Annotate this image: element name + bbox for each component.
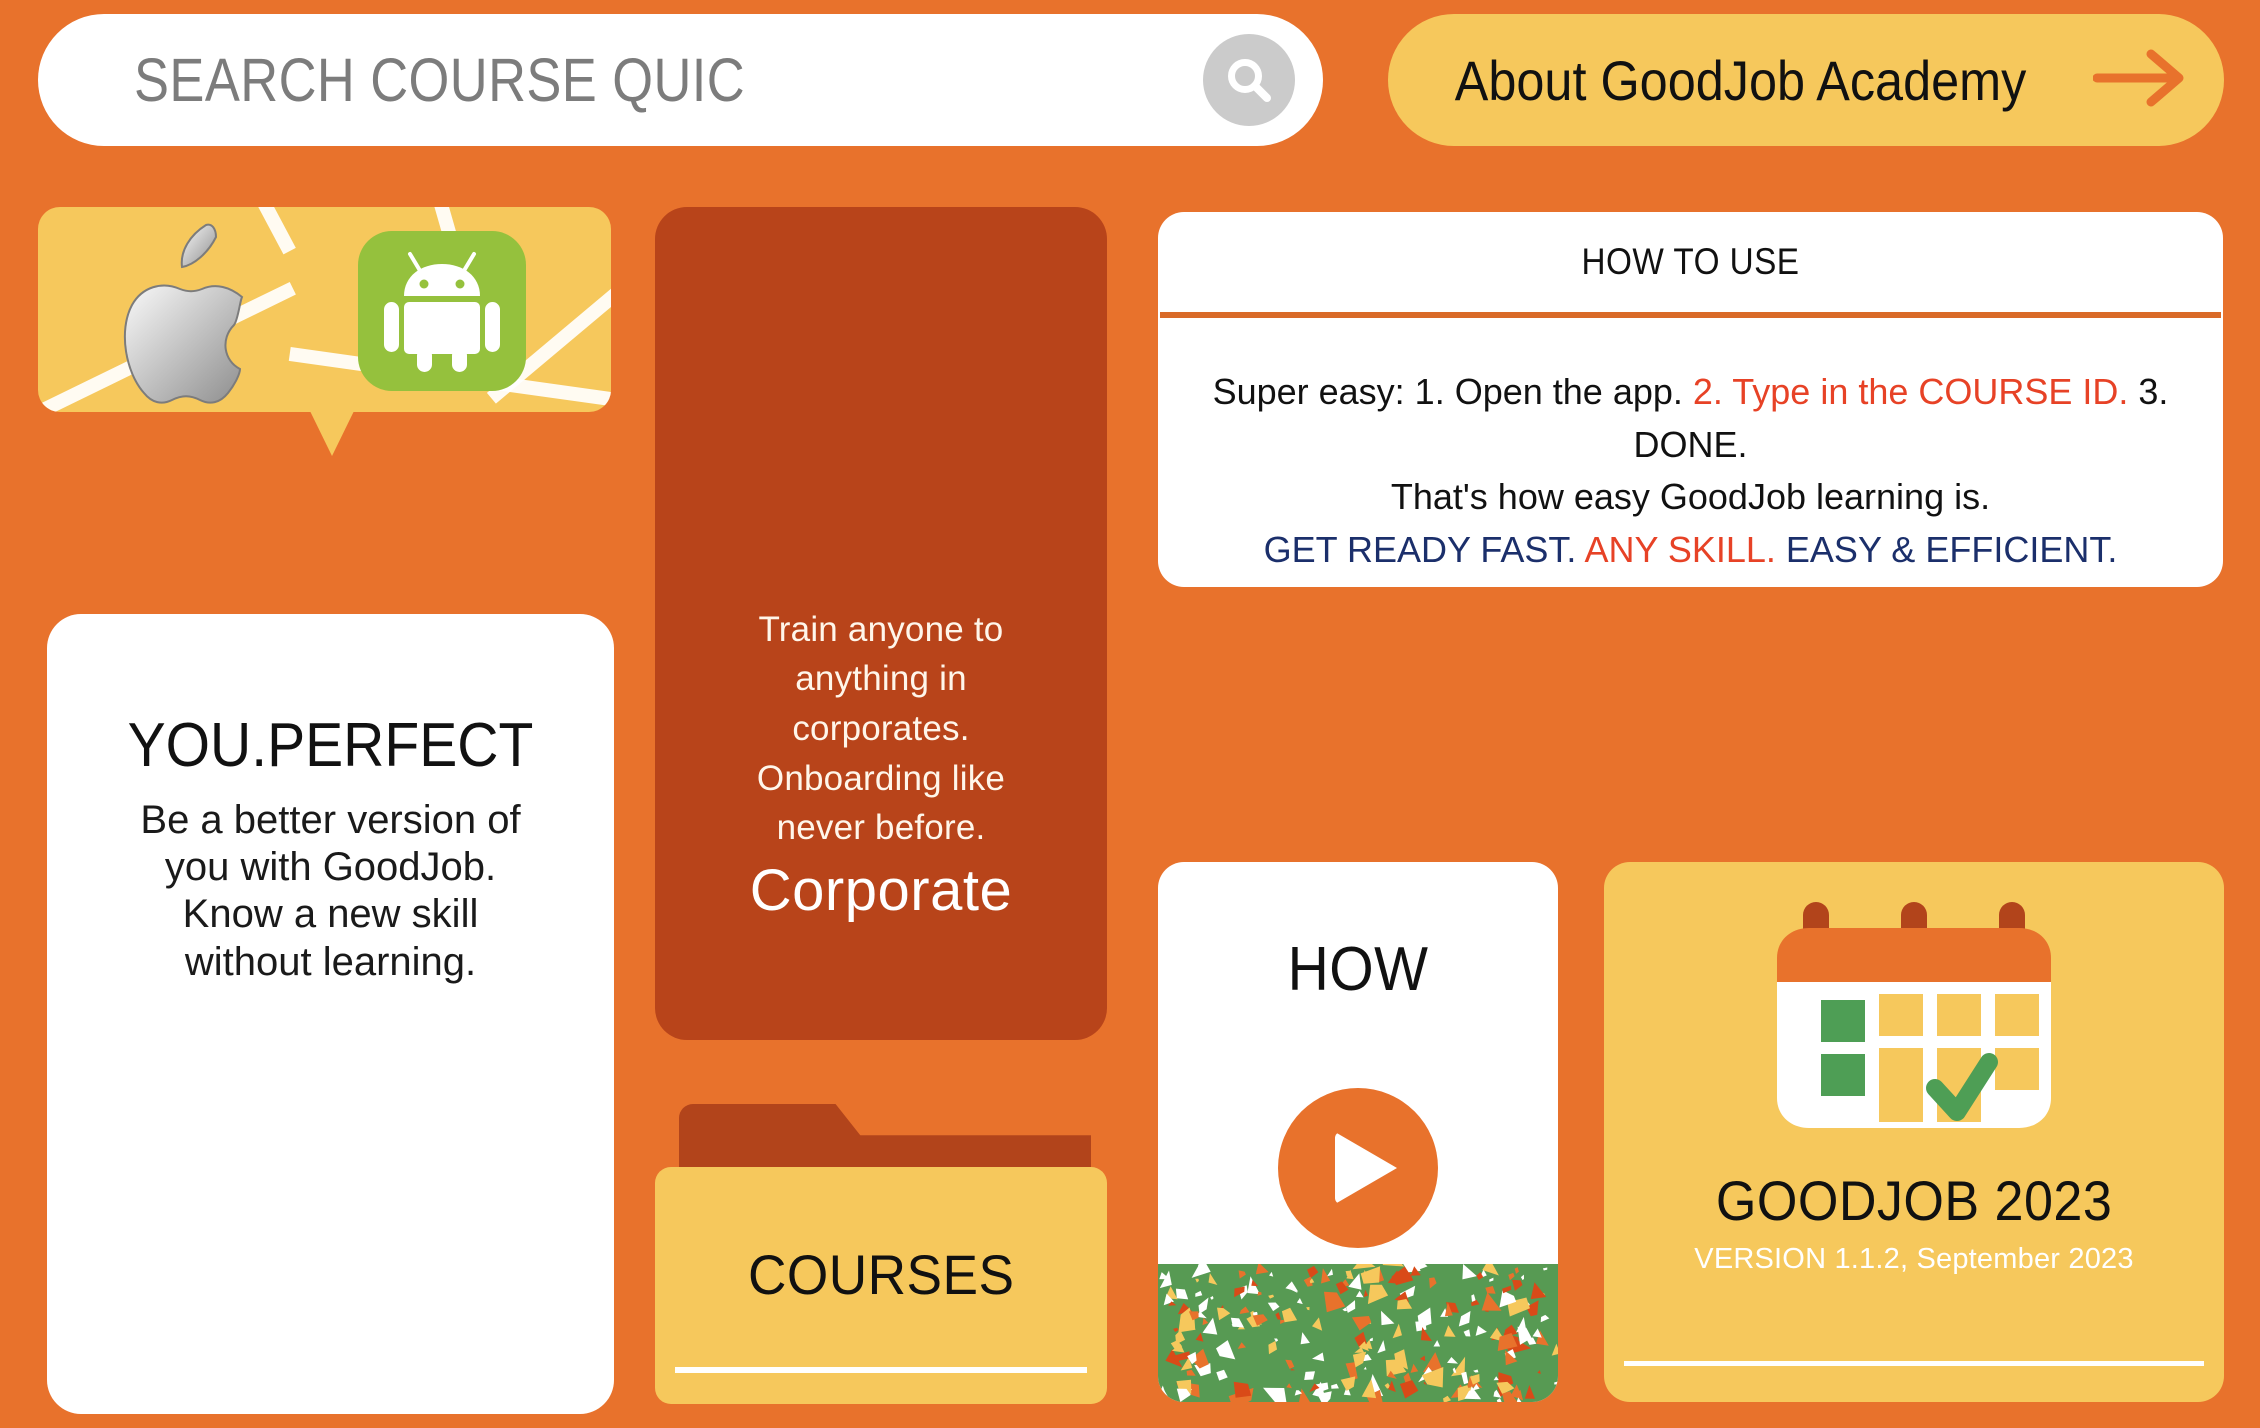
bubble-tail [310,411,354,456]
search-icon[interactable] [1203,34,1295,126]
corporate-title: Corporate [750,857,1012,924]
how-to-use-line-2: That's how easy GoodJob learning is. [1158,471,2223,524]
tagline-part-2: ANY SKILL. [1576,529,1775,570]
apple-logo-icon [90,221,310,411]
goodjob-title: GOODJOB 2023 [1716,1168,2112,1233]
steps-prefix: Super easy: 1. Open the app. [1213,371,1693,412]
bubble-background [38,207,611,412]
courses-label: COURSES [748,1242,1014,1307]
folder-accent-line [675,1367,1087,1373]
play-triangle [1335,1132,1397,1204]
tagline-part-1: GET READY FAST. [1264,529,1577,570]
corporate-body: Train anyone to anything in corporates. … [741,605,1021,853]
how-video-title: HOW [1174,934,1542,1005]
goodjob-version-card[interactable]: GOODJOB 2023 VERSION 1.1.2, September 20… [1604,862,2224,1402]
about-button[interactable]: About GoodJob Academy [1388,14,2224,146]
about-button-label: About GoodJob Academy [1455,48,2027,113]
how-to-use-line-1: Super easy: 1. Open the app. 2. Type in … [1158,366,2223,471]
calendar-icon [1775,894,2053,1152]
how-to-use-line-3: GET READY FAST. ANY SKILL. EASY & EFFICI… [1158,524,2223,577]
courses-folder[interactable]: COURSES [655,1104,1107,1404]
app-canvas: About GoodJob Academy [0,0,2260,1428]
you-perfect-body: Be a better version of you with GoodJob.… [131,797,531,986]
tagline-part-3: EASY & EFFICIENT. [1776,529,2117,570]
android-robot-icon [358,231,526,391]
you-perfect-title: YOU.PERFECT [128,710,534,781]
how-video-card[interactable]: HOW [1158,862,1558,1402]
goodjob-version-label: VERSION 1.1.2, September 2023 [1694,1243,2133,1276]
folder-front: COURSES [655,1167,1107,1404]
platform-bubble[interactable] [38,207,611,412]
how-to-use-body: Super easy: 1. Open the app. 2. Type in … [1158,318,2223,576]
terrazzo-band [1158,1264,1558,1402]
steps-highlight: 2. Type in the COURSE ID. [1693,371,2129,412]
search-input[interactable] [134,45,1045,115]
how-to-use-title: HOW TO USE [1211,212,2170,312]
play-icon[interactable] [1278,1088,1438,1248]
how-to-use-card: HOW TO USE Super easy: 1. Open the app. … [1158,212,2223,587]
corporate-card[interactable]: Train anyone to anything in corporates. … [655,207,1107,1040]
you-perfect-card[interactable]: YOU.PERFECT Be a better version of you w… [47,614,614,1414]
arrow-right-icon [2093,47,2189,114]
search-bar[interactable] [38,14,1323,146]
goodjob-accent-line [1624,1361,2204,1366]
